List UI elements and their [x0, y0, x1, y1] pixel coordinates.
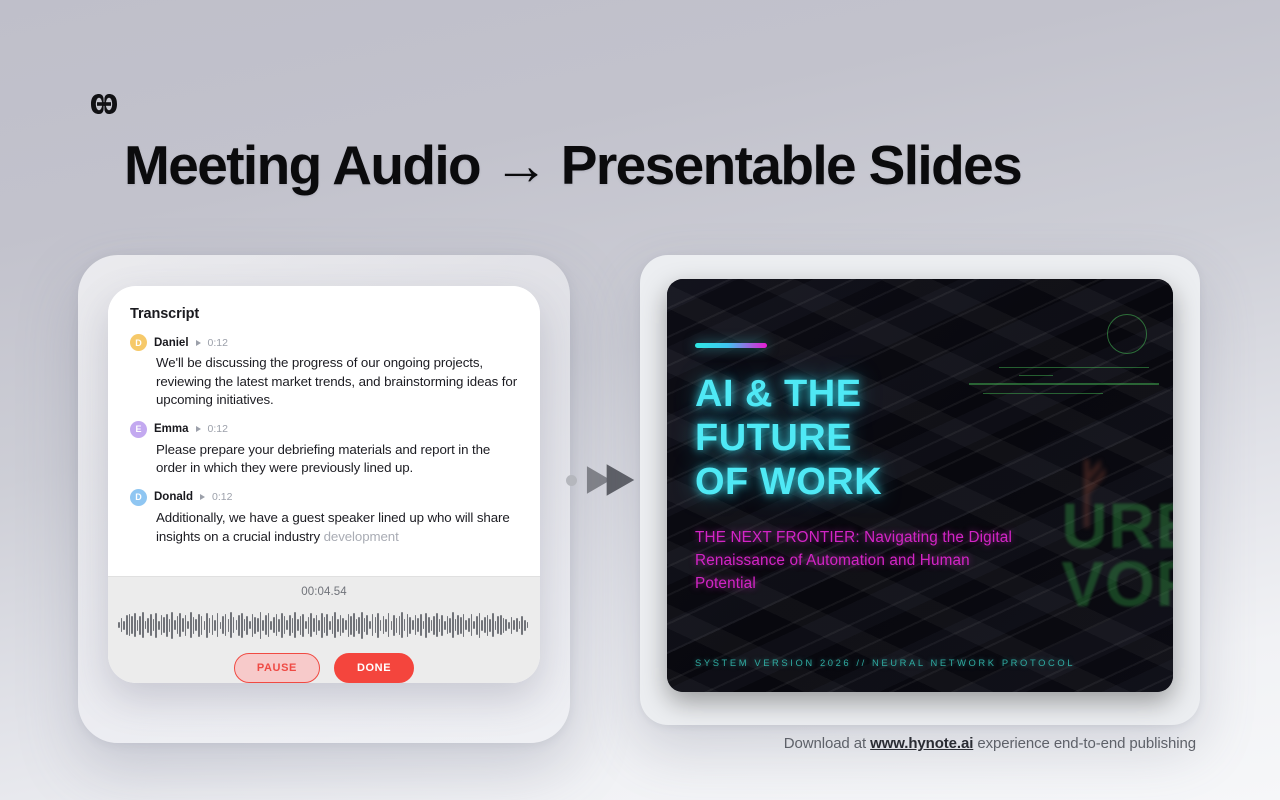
transition-indicator — [566, 460, 638, 500]
transcript-text-pending: development — [324, 529, 399, 544]
transcript-text-main: Please prepare your debriefing materials… — [156, 442, 490, 476]
transcript-text: Additionally, we have a guest speaker li… — [130, 509, 518, 546]
footer-suffix: experience end-to-end publishing — [973, 735, 1196, 752]
transcript-text-main: We'll be discussing the progress of our … — [156, 355, 517, 407]
play-icon[interactable] — [196, 340, 201, 346]
recording-timer: 00:04.54 — [108, 586, 540, 598]
player-button-row: PAUSE DONE — [108, 653, 540, 683]
list-item[interactable]: E Emma 0:12 Please prepare your debriefi… — [130, 421, 518, 478]
transcript-entry-header: E Emma 0:12 — [130, 421, 518, 438]
fast-forward-icon — [583, 460, 638, 500]
transcript-list: Transcript D Daniel 0:12 We'll be discus… — [108, 286, 540, 576]
done-button[interactable]: DONE — [334, 653, 414, 683]
avatar: E — [130, 421, 147, 438]
recorder-panel: Transcript D Daniel 0:12 We'll be discus… — [108, 286, 540, 683]
avatar: D — [130, 334, 147, 351]
pause-button[interactable]: PAUSE — [234, 653, 320, 683]
transcript-text: We'll be discussing the progress of our … — [130, 354, 518, 410]
transcript-heading: Transcript — [130, 306, 518, 322]
slide-footer-text: SYSTEM VERSION 2026 // NEURAL NETWORK PR… — [695, 657, 1075, 668]
slide-content: AI & THEFUTUREOF WORK THE NEXT FRONTIER:… — [667, 279, 1173, 692]
audio-player: 00:04.54 PAUSE DONE — [108, 576, 540, 683]
transcript-entry-header: D Daniel 0:12 — [130, 334, 518, 351]
list-item[interactable]: D Daniel 0:12 We'll be discussing the pr… — [130, 334, 518, 410]
waveform[interactable] — [118, 607, 530, 643]
speaker-name: Donald — [154, 491, 193, 503]
play-icon[interactable] — [200, 494, 205, 500]
play-icon[interactable] — [196, 426, 201, 432]
transcript-entry-header: D Donald 0:12 — [130, 489, 518, 506]
avatar: D — [130, 489, 147, 506]
timestamp: 0:12 — [208, 423, 228, 435]
slide-title: AI & THEFUTUREOF WORK — [695, 372, 1139, 504]
hynote-link[interactable]: www.hynote.ai — [870, 735, 973, 752]
slide-accent-bar — [695, 343, 767, 348]
timestamp: 0:12 — [208, 337, 228, 349]
speaker-name: Emma — [154, 423, 189, 435]
transcript-text: Please prepare your debriefing materials… — [130, 441, 518, 478]
hynote-h-logo — [88, 88, 120, 120]
progress-dot — [566, 475, 577, 486]
footer-prefix: Download at — [784, 735, 870, 752]
slide-subtitle: THE NEXT FRONTIER: Navigating the Digita… — [695, 526, 1035, 595]
list-item[interactable]: D Donald 0:12 Additionally, we have a gu… — [130, 489, 518, 546]
generated-slide[interactable]: ᚠ UREVOR AI & THEFUTUREOF WORK THE NEXT … — [667, 279, 1173, 692]
download-footer: Download at www.hynote.ai experience end… — [784, 735, 1196, 752]
speaker-name: Daniel — [154, 337, 189, 349]
page-title: Meeting Audio → Presentable Slides — [124, 133, 1021, 197]
timestamp: 0:12 — [212, 491, 232, 503]
